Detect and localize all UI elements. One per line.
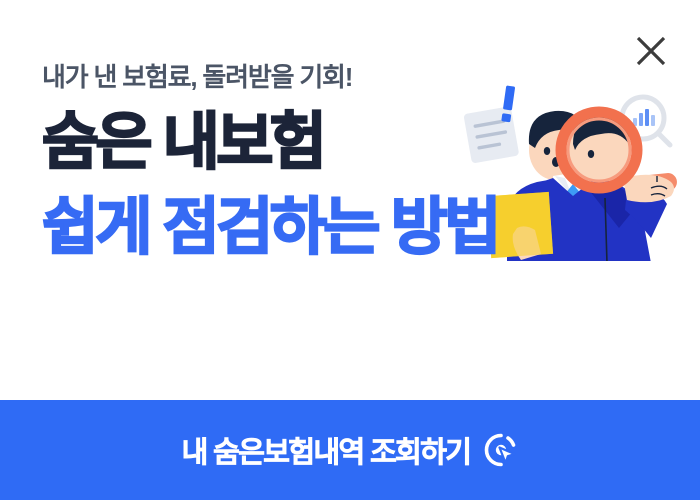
exclamation-mark-icon [501, 85, 515, 122]
cta-label: 내 숨은보험내역 조회하기 [182, 429, 471, 471]
promo-banner: 내가 낸 보험료, 돌려받을 기회! 숨은 내보험 쉽게 점검하는 방법 [0, 0, 700, 500]
click-target-icon [484, 433, 518, 467]
banner-subtitle: 내가 낸 보험료, 돌려받을 기회! [42, 62, 498, 93]
banner-headline-line1: 숨은 내보험 [42, 111, 498, 174]
close-icon [636, 36, 666, 66]
close-button[interactable] [628, 28, 674, 74]
ground-line [495, 261, 665, 263]
banner-headline-line2: 쉽게 점검하는 방법 [42, 196, 498, 259]
cta-button[interactable]: 내 숨은보험내역 조회하기 [0, 400, 700, 500]
headline-block: 내가 낸 보험료, 돌려받을 기회! 숨은 내보험 쉽게 점검하는 방법 [42, 62, 498, 260]
